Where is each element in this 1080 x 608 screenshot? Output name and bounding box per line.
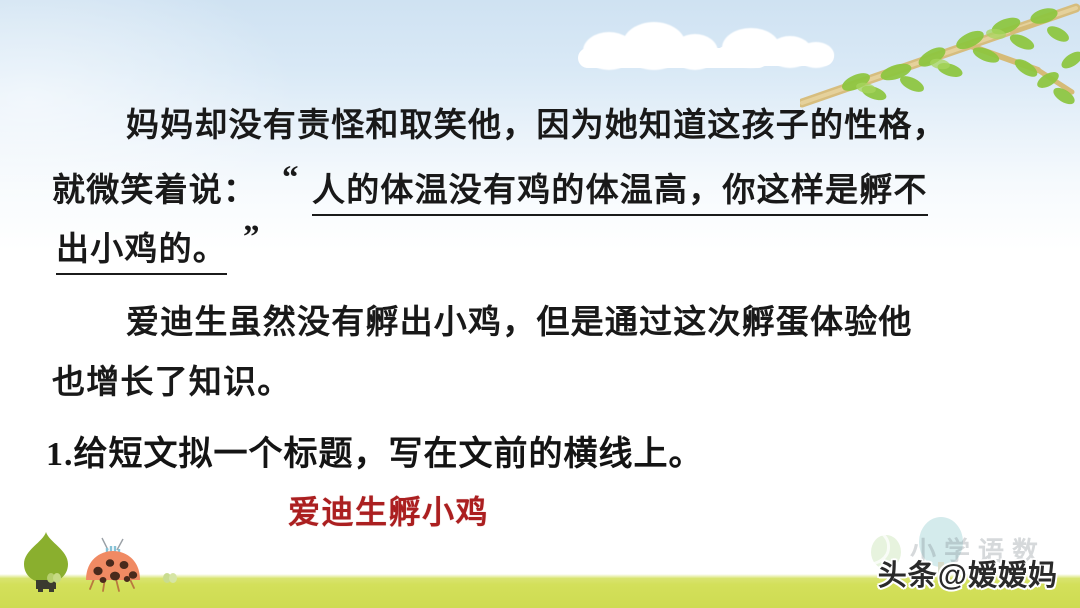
at-symbol: @ <box>938 559 968 593</box>
ladybug-decoration <box>72 534 154 594</box>
ladybug-icon <box>72 534 154 594</box>
question-number: 1. <box>46 436 74 473</box>
sprout-decoration-1 <box>46 570 62 584</box>
watermark-handle: 头条@嫒嫒妈 <box>878 552 1058 594</box>
close-quote-mark: ” <box>243 219 261 256</box>
watermark-username: 嫒嫒妈 <box>968 560 1058 592</box>
watermark-brand: 头条 <box>878 560 938 592</box>
question-1: 1.给短文拟一个标题，写在文前的横线上。 <box>46 426 704 475</box>
sprout-icon <box>162 570 178 584</box>
sprout-icon <box>46 570 62 584</box>
passage-line-5: 也增长了知识。 <box>52 355 291 403</box>
passage-line-1: 妈妈却没有责怪和取笑他，因为她知道这孩子的性格， <box>126 98 947 146</box>
open-quote-mark: “ <box>282 160 300 197</box>
passage-line-4: 爱迪生虽然没有孵出小鸡，但是通过这次孵蛋体验他 <box>126 295 913 343</box>
passage-line-2-underlined: 人的体温没有鸡的体温高，你这样是孵不 <box>312 163 928 216</box>
sprout-decoration-2 <box>162 570 178 584</box>
question-1-answer: 爱迪生孵小鸡 <box>288 487 489 533</box>
question-text: 给短文拟一个标题，写在文前的横线上。 <box>74 436 704 473</box>
passage-line-2-lead: 就微笑着说： <box>52 163 257 211</box>
passage-line-3-underlined: 出小鸡的。 <box>56 222 227 275</box>
slide-canvas: 妈妈却没有责怪和取笑他，因为她知道这孩子的性格， 就微笑着说： “ 人的体温没有… <box>0 0 1080 608</box>
watermark: 小学语数 头条@嫒嫒妈 <box>836 522 1066 602</box>
